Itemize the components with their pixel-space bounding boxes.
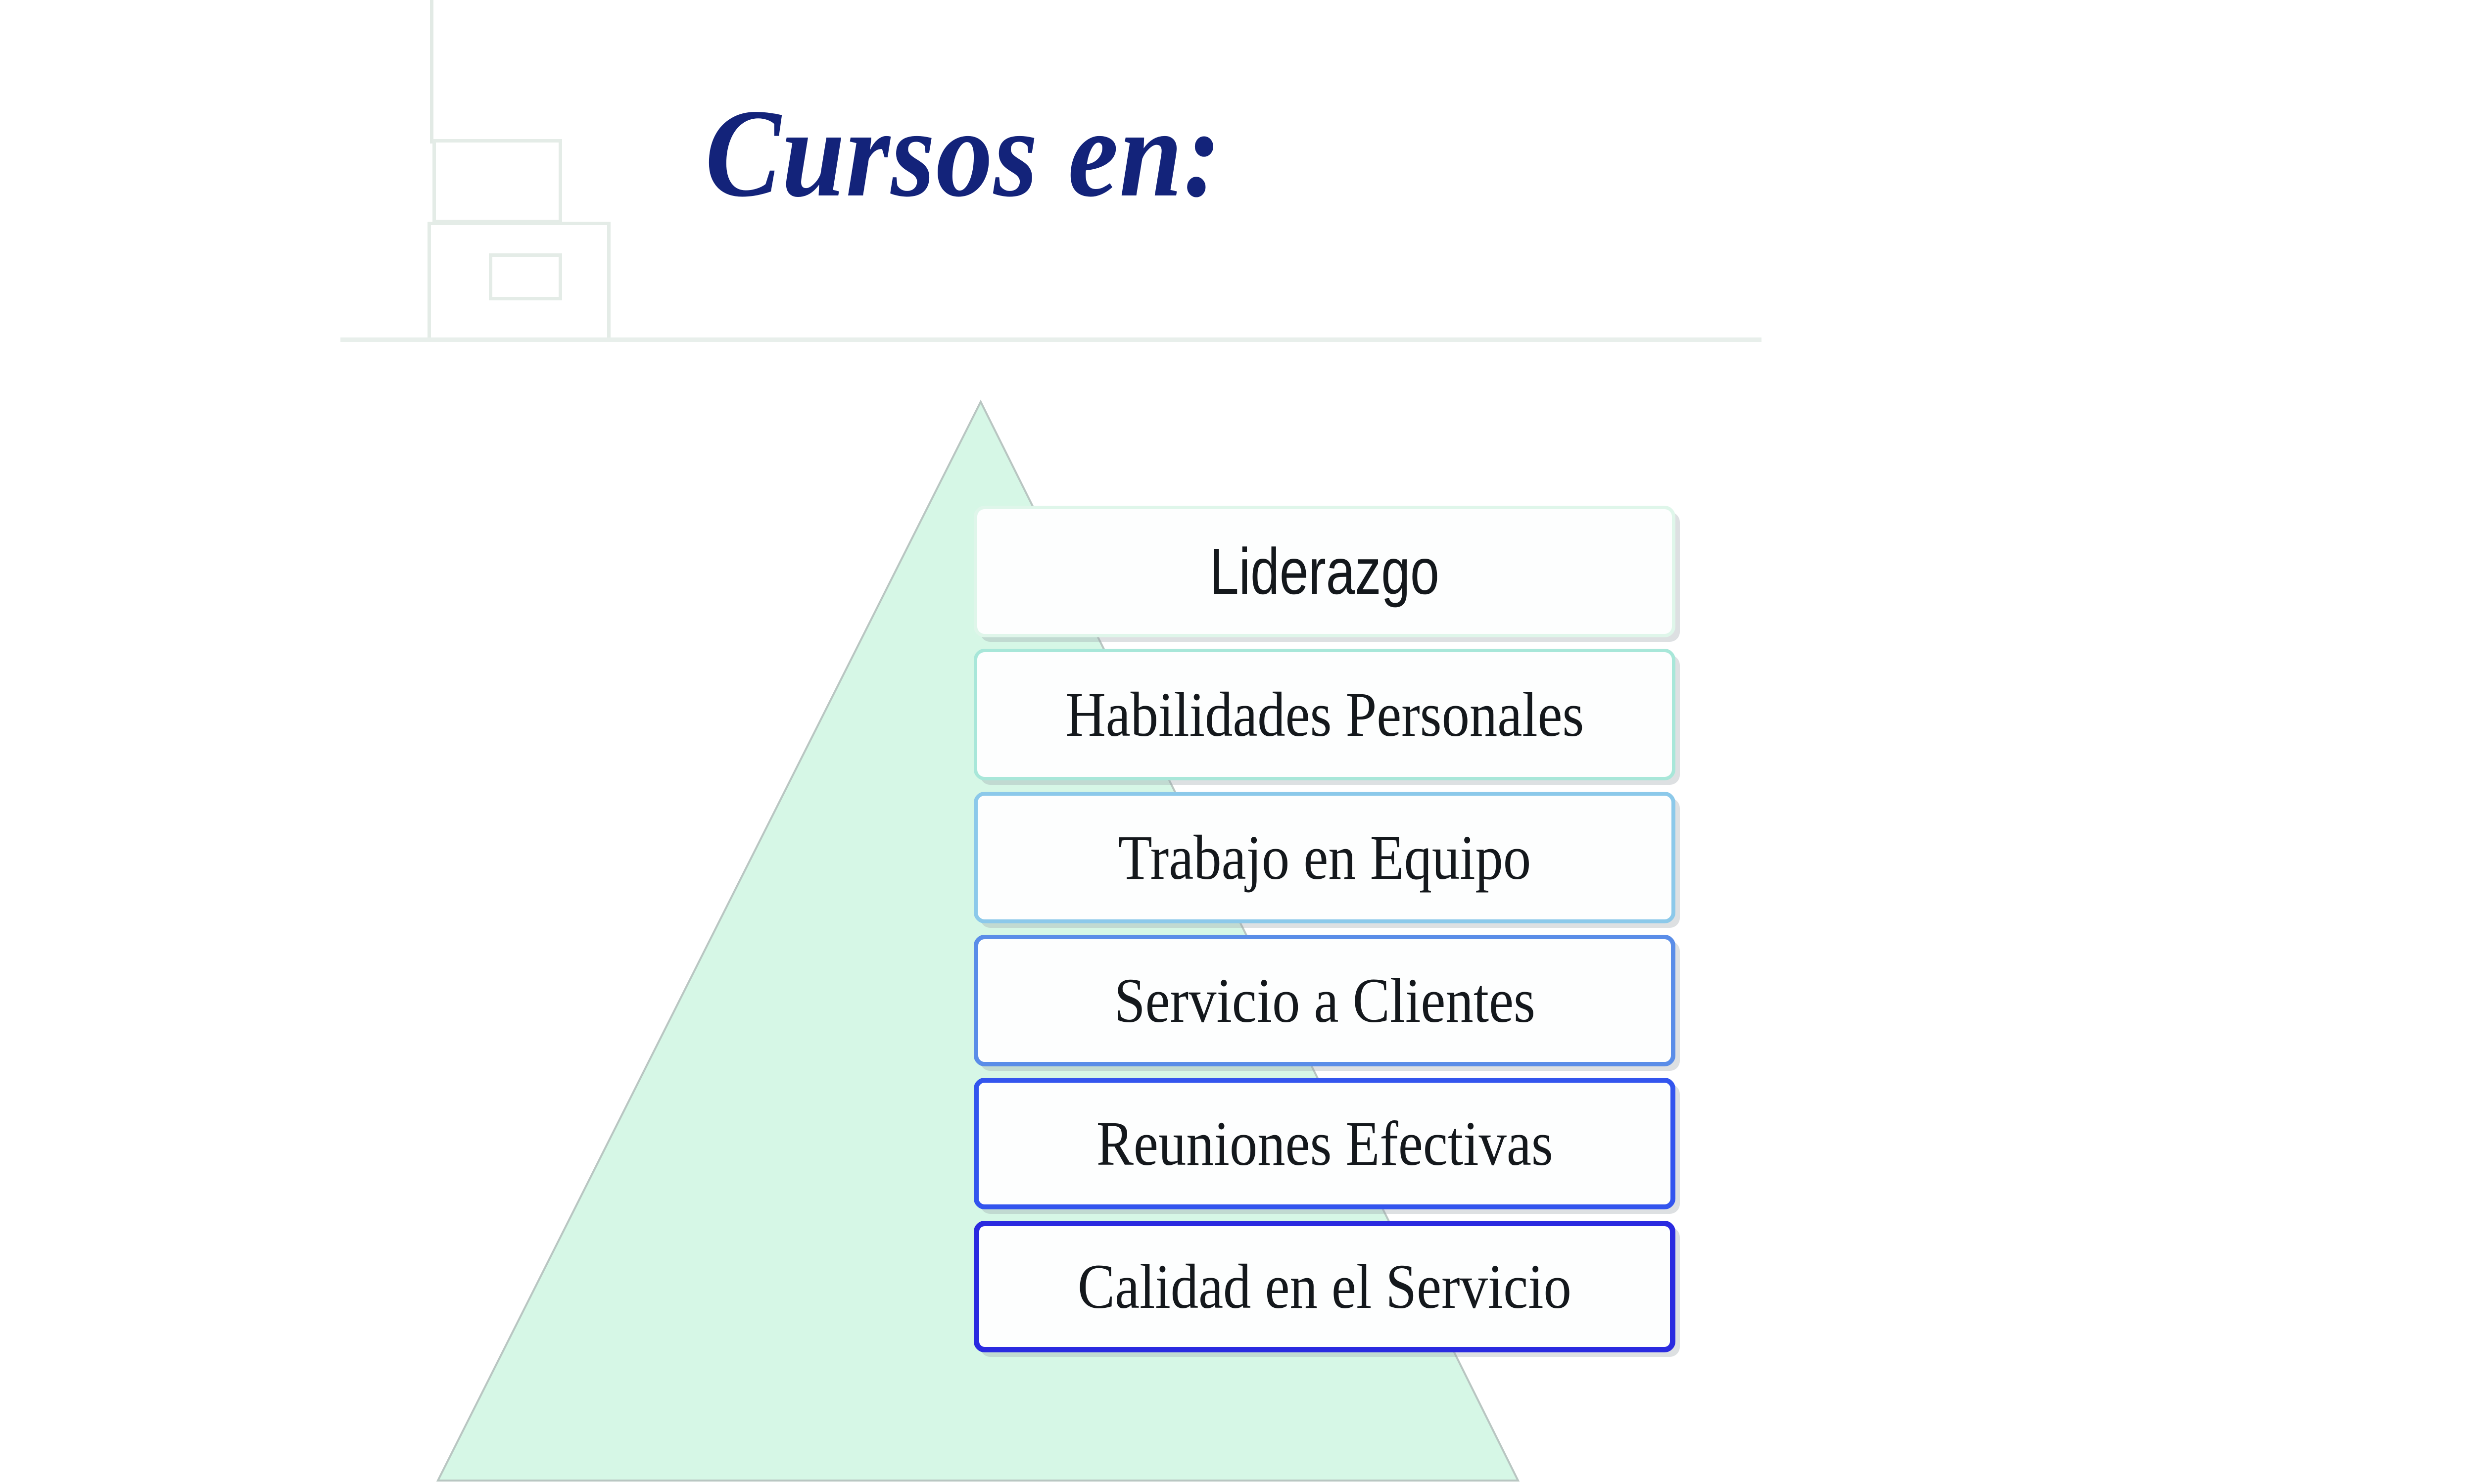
course-label: Trabajo en Equipo xyxy=(1118,826,1531,889)
course-label: Habilidades Personales xyxy=(1065,683,1584,746)
course-list: Liderazgo Habilidades Personales Trabajo… xyxy=(974,506,1676,1364)
course-box-calidad-en-el-servicio[interactable]: Calidad en el Servicio xyxy=(974,1221,1675,1352)
decorative-rectangle-inner xyxy=(489,253,562,300)
course-box-liderazgo[interactable]: Liderazgo xyxy=(974,506,1675,637)
course-box-servicio-a-clientes[interactable]: Servicio a Clientes xyxy=(974,935,1675,1066)
course-label: Reuniones Efectivas xyxy=(1096,1112,1553,1175)
decorative-rectangle-upper xyxy=(432,139,562,223)
vertical-accent-line xyxy=(430,0,433,144)
title-underline-rule xyxy=(340,337,1761,342)
page-title: Cursos en: xyxy=(705,79,1596,228)
course-label: Liderazgo xyxy=(1210,539,1439,604)
course-box-trabajo-en-equipo[interactable]: Trabajo en Equipo xyxy=(974,792,1675,923)
course-label: Calidad en el Servicio xyxy=(1078,1255,1571,1318)
course-label: Servicio a Clientes xyxy=(1114,969,1535,1032)
course-box-reuniones-efectivas[interactable]: Reuniones Efectivas xyxy=(974,1078,1675,1209)
slide-canvas: Cursos en: Liderazgo Habilidades Persona… xyxy=(0,0,2474,1484)
course-box-habilidades-personales[interactable]: Habilidades Personales xyxy=(974,649,1675,780)
